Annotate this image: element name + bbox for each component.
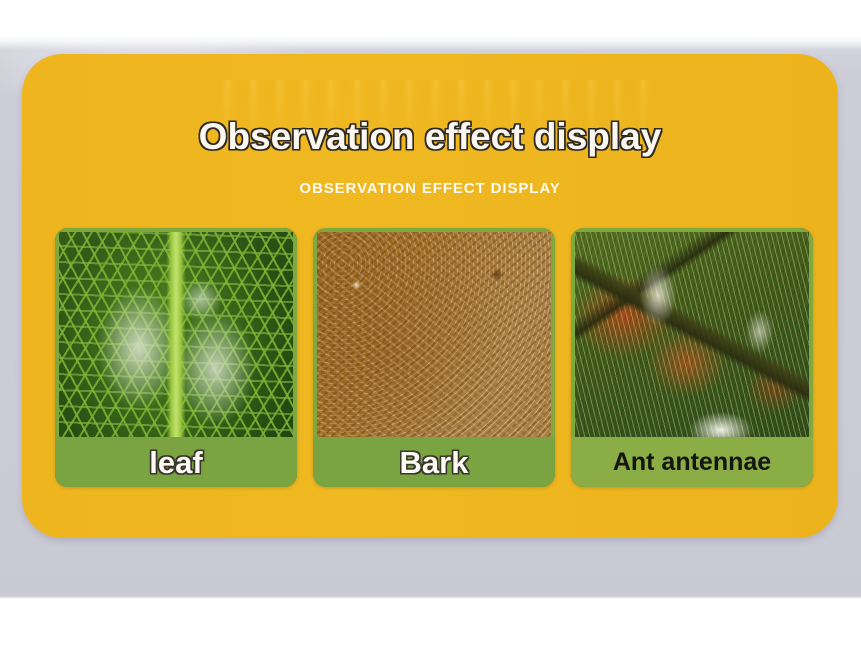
- card-label-leaf: leaf: [149, 447, 202, 478]
- sample-card-leaf[interactable]: leaf: [55, 228, 297, 487]
- page-title: Observation effect display: [22, 116, 838, 158]
- card-label-bar-bark: Bark: [313, 437, 555, 487]
- observation-effect-panel: Observation effect display OBSERVATION E…: [22, 54, 838, 538]
- card-label-bar-leaf: leaf: [55, 437, 297, 487]
- card-label-ant-antennae: Ant antennae: [613, 450, 771, 475]
- sample-card-row: leaf Bark Ant antennae: [55, 228, 813, 488]
- sample-card-ant-antennae[interactable]: Ant antennae: [571, 228, 813, 487]
- page-subtitle: OBSERVATION EFFECT DISPLAY: [22, 180, 838, 197]
- card-label-bark: Bark: [400, 447, 469, 478]
- card-label-bar-ant-antennae: Ant antennae: [571, 437, 813, 487]
- sample-card-bark[interactable]: Bark: [313, 228, 555, 487]
